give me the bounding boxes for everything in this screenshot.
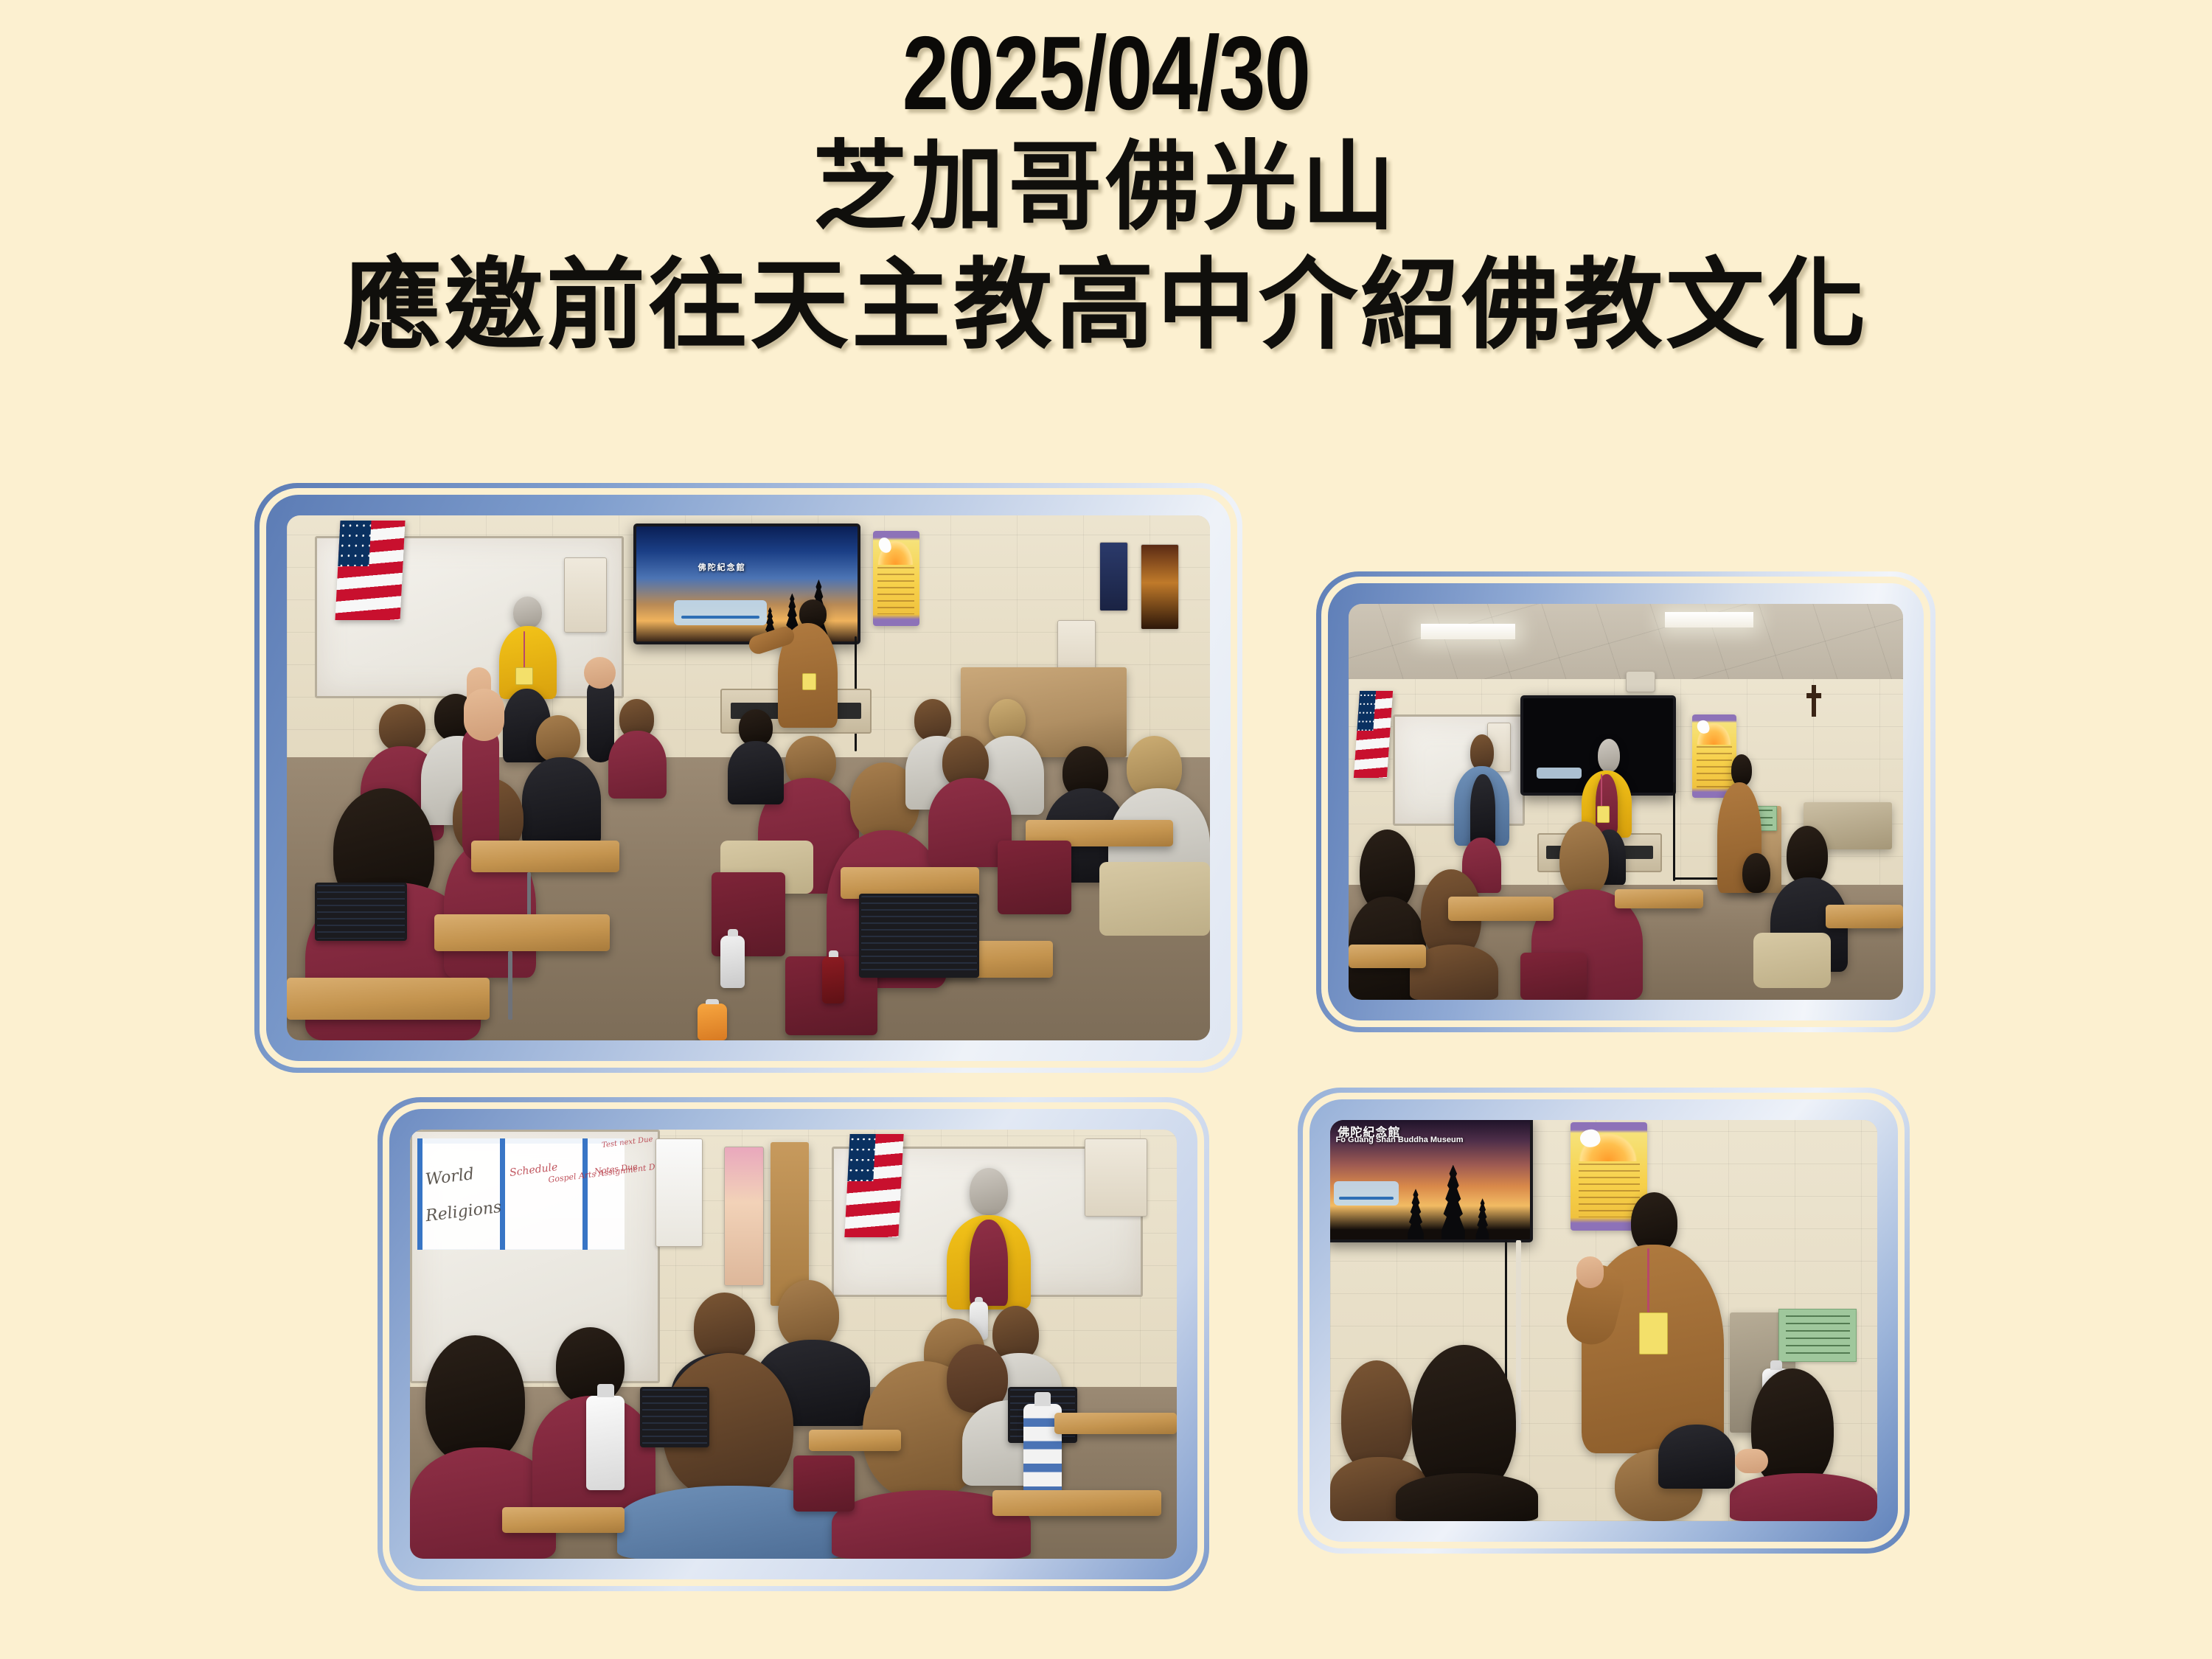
photo-frame-top-right[interactable] [1316,571,1935,1032]
name-badge [1639,1312,1668,1354]
video-progress-bar[interactable] [1334,1181,1399,1206]
student-tablet [859,894,979,978]
video-progress-bar[interactable] [674,600,767,625]
page-title: 2025/04/30 芝加哥佛光山 應邀前往天主教高中介紹佛教文化 [0,0,2212,363]
photo-frame-top-left[interactable]: 佛陀紀念館 [254,483,1242,1073]
tv-title-en: Fo Guang Shan Buddha Museum [1336,1135,1464,1144]
photo-top-left: 佛陀紀念館 [287,515,1210,1040]
photo-top-right [1349,604,1903,1000]
crucifix-icon [1812,685,1816,717]
us-flag-icon [844,1134,903,1237]
us-flag-icon [335,521,405,620]
photo-frame-bottom-right[interactable]: 佛陀紀念館 Fo Guang Shan Buddha Museum [1298,1088,1910,1554]
photo-frame-bottom-left[interactable]: World Religions Schedule Gospel Arts Ass… [378,1097,1209,1591]
title-line-2: 應邀前往天主教高中介紹佛教文化 [0,246,2212,363]
photo-bottom-left: World Religions Schedule Gospel Arts Ass… [410,1130,1177,1559]
title-line-1: 芝加哥佛光山 [44,128,2168,246]
classroom-tv: 佛陀紀念館 [633,524,860,645]
student-tablet [640,1387,709,1447]
student-braids [425,1335,525,1464]
water-bottle [586,1396,625,1490]
student-tablet [315,883,407,940]
title-date: 2025/04/30 [221,21,1991,128]
us-flag-icon [1354,691,1393,778]
podium-note [1778,1309,1857,1363]
classroom-tv: 佛陀紀念館 Fo Guang Shan Buddha Museum [1330,1120,1533,1242]
photo-bottom-right: 佛陀紀念館 Fo Guang Shan Buddha Museum [1330,1120,1877,1521]
monastic-head [1631,1192,1677,1253]
tv-screen-title: 佛陀紀念館 [698,561,746,573]
